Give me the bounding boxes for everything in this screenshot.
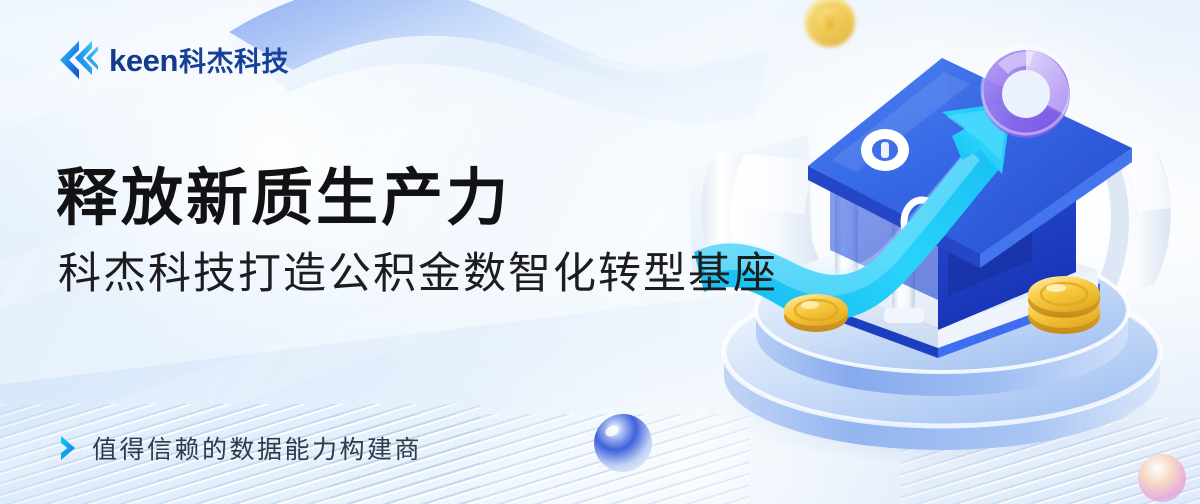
hero-headline: 释放新质生产力: [56, 166, 511, 231]
roof-coin-emblem: [861, 129, 909, 171]
gold-coin-floating: ¥: [805, 0, 855, 47]
hero-tagline-text: 值得信赖的数据能力构建商: [92, 430, 422, 466]
donut-chart: [982, 46, 1070, 138]
gold-coin-left: [784, 294, 848, 332]
hero-banner: ¥: [0, 0, 1200, 504]
svg-text:¥: ¥: [825, 14, 835, 34]
accent-orb: [1136, 452, 1188, 504]
brand-latin-name: keen: [109, 45, 178, 76]
chevron-right-icon: [58, 434, 78, 462]
keen-chevron-logo-icon: [58, 38, 100, 82]
hero-subheadline: 科杰科技打造公积金数智化转型基座: [58, 250, 778, 299]
hero-tagline: 值得信赖的数据能力构建商: [58, 430, 422, 466]
brand-chinese-name: 科杰科技: [179, 49, 289, 76]
brand-logo[interactable]: keen 科杰科技: [58, 38, 289, 82]
brand-wordmark: keen 科杰科技: [109, 45, 289, 76]
gold-coin-stack-right: [1028, 276, 1100, 334]
glass-sphere: [592, 412, 654, 474]
